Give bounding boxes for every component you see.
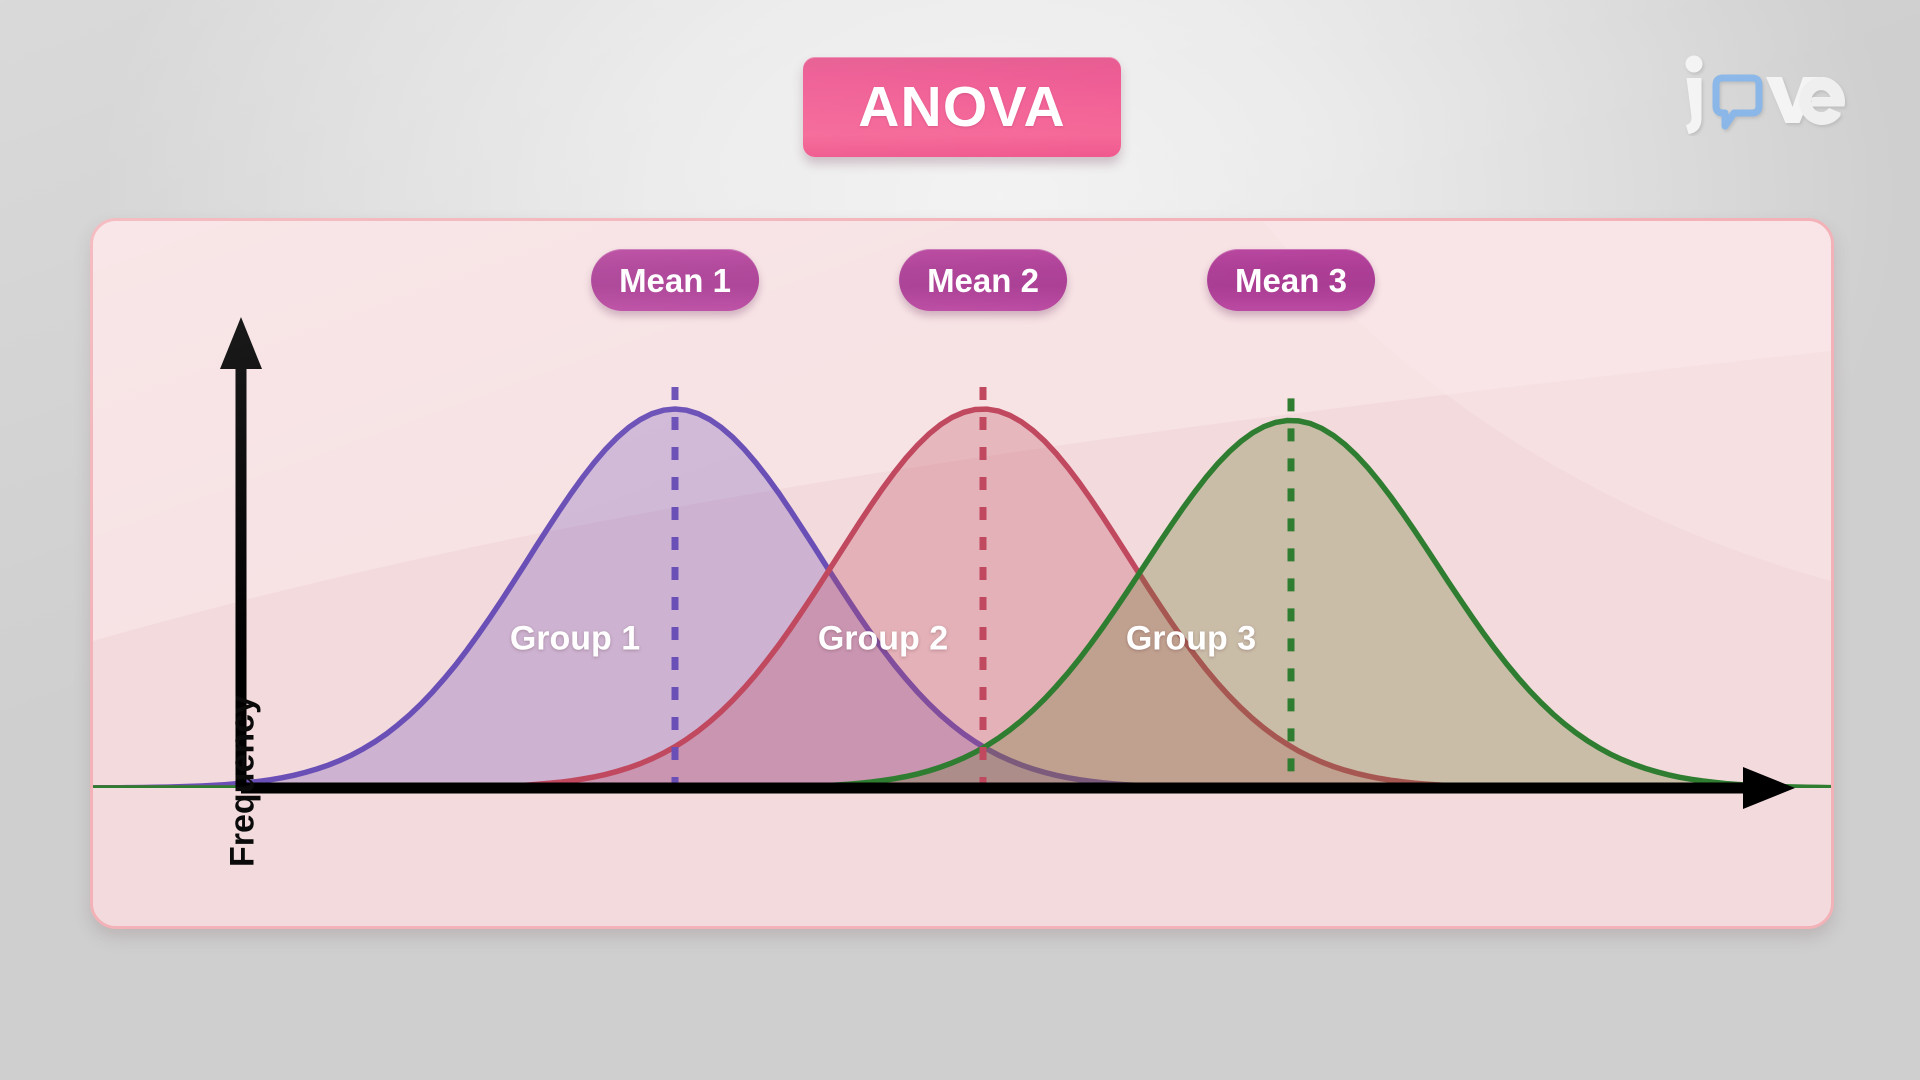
title-badge: ANOVA xyxy=(803,57,1121,157)
chart-panel: Mean 1Mean 2Mean 3 Group 1Group 2Group 3… xyxy=(90,218,1834,929)
mean-badge-label: Mean 2 xyxy=(927,264,1039,297)
mean-badge-1[interactable]: Mean 1 xyxy=(591,249,759,311)
mean-badge-label: Mean 1 xyxy=(619,264,731,297)
slide-canvas: ANOVA xyxy=(0,0,1920,1080)
title-text: ANOVA xyxy=(858,79,1066,136)
mean-badge-3[interactable]: Mean 3 xyxy=(1207,249,1375,311)
distribution-plot xyxy=(93,221,1831,926)
y-axis-title: Frequency xyxy=(224,695,263,867)
jove-logo xyxy=(1678,50,1868,136)
mean-badge-label: Mean 3 xyxy=(1235,264,1347,297)
mean-badge-2[interactable]: Mean 2 xyxy=(899,249,1067,311)
